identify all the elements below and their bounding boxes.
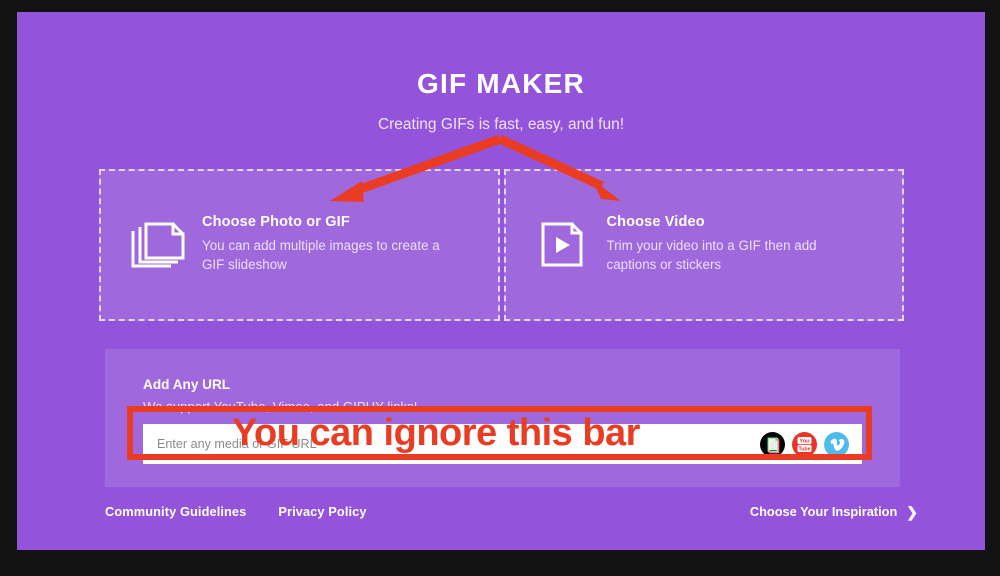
youtube-icon[interactable]: You Tube — [792, 432, 817, 457]
url-input-container[interactable]: You Tube — [143, 424, 862, 464]
media-url-input[interactable] — [143, 437, 760, 451]
add-url-title: Add Any URL — [143, 377, 230, 392]
vimeo-icon[interactable] — [824, 432, 849, 457]
choose-photo-text-block: Choose Photo or GIF You can add multiple… — [202, 214, 462, 276]
choose-photo-title: Choose Photo or GIF — [202, 214, 462, 230]
choose-video-description: Trim your video into a GIF then add capt… — [607, 237, 867, 274]
community-guidelines-link[interactable]: Community Guidelines — [105, 504, 246, 519]
page-footer: Community Guidelines Privacy Policy Choo… — [17, 504, 985, 524]
svg-text:Tube: Tube — [798, 446, 810, 452]
add-any-url-card: Add Any URL We support YouTube, Vimeo, a… — [105, 349, 900, 487]
stacked-photos-icon — [131, 221, 185, 269]
upload-choice-group: Choose Photo or GIF You can add multiple… — [99, 169, 904, 321]
gif-maker-page: GIF MAKER Creating GIFs is fast, easy, a… — [17, 12, 985, 550]
choose-video-title: Choose Video — [607, 214, 867, 230]
svg-text:You: You — [799, 438, 810, 444]
footer-links: Community Guidelines Privacy Policy — [105, 504, 367, 519]
giphy-icon[interactable] — [760, 432, 785, 457]
choose-photo-or-gif-panel[interactable]: Choose Photo or GIF You can add multiple… — [99, 169, 500, 321]
choose-your-inspiration-button[interactable]: Choose Your Inspiration ❯ — [750, 504, 918, 519]
choose-video-text-block: Choose Video Trim your video into a GIF … — [607, 214, 867, 276]
page-title: GIF MAKER — [17, 68, 985, 100]
supported-service-icons: You Tube — [760, 432, 862, 457]
choose-inspiration-label: Choose Your Inspiration — [750, 504, 897, 519]
choose-photo-description: You can add multiple images to create a … — [202, 237, 462, 274]
page-header: GIF MAKER Creating GIFs is fast, easy, a… — [17, 12, 985, 134]
privacy-policy-link[interactable]: Privacy Policy — [278, 504, 366, 519]
page-subtitle: Creating GIFs is fast, easy, and fun! — [17, 116, 985, 134]
choose-video-panel[interactable]: Choose Video Trim your video into a GIF … — [504, 169, 905, 321]
screenshot-root: GIF MAKER Creating GIFs is fast, easy, a… — [0, 0, 1000, 576]
chevron-right-icon: ❯ — [906, 505, 918, 519]
video-file-play-icon — [536, 221, 590, 269]
add-url-subtitle: We support YouTube, Vimeo, and GIPHY lin… — [143, 399, 417, 414]
